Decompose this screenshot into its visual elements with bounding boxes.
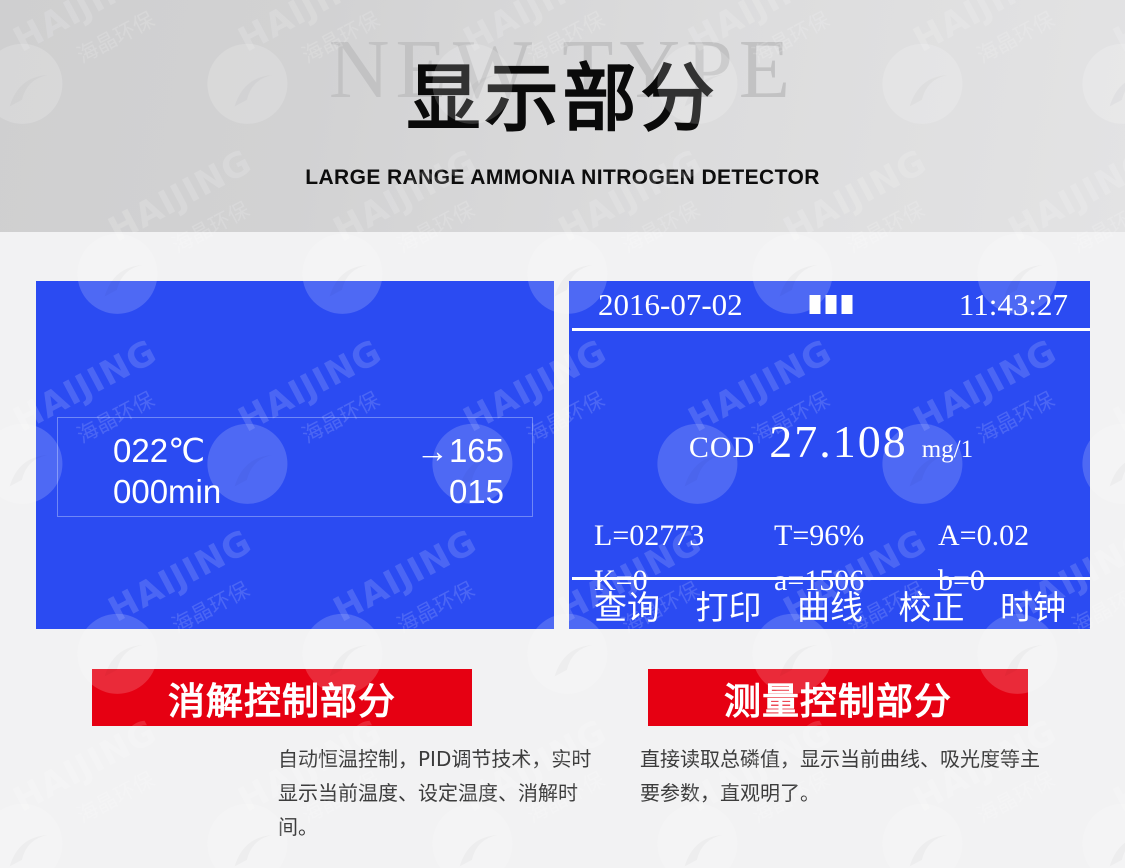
param-a: a=1506 [774, 558, 938, 603]
target-time-value: 015 [449, 475, 504, 508]
current-temperature-value: 022℃ [113, 434, 205, 467]
temperature-row: 022℃ →165 [58, 434, 532, 467]
parameter-row: K=0 a=1506 b=0 [594, 558, 1072, 603]
digestion-section-banner: 消解控制部分 [92, 669, 472, 726]
param-A: A=0.02 [938, 513, 1072, 558]
page-header: NEW TYPE 显示部分 LARGE RANGE AMMONIA NITROG… [0, 0, 1125, 232]
svg-text:HAIJING: HAIJING [7, 712, 164, 821]
param-b: b=0 [938, 558, 1072, 603]
param-K: K=0 [594, 558, 774, 603]
parameter-table: L=02773 T=96% A=0.02 K=0 a=1506 b=0 [594, 513, 1072, 603]
parameter-row: L=02773 T=96% A=0.02 [594, 513, 1072, 558]
param-T: T=96% [774, 513, 938, 558]
measurement-section-banner: 测量控制部分 [648, 669, 1028, 726]
param-L: L=02773 [594, 513, 774, 558]
time-row: 000min 015 [58, 475, 532, 508]
current-time-value: 000min [113, 475, 221, 508]
reading-value: 27.108 [769, 416, 908, 467]
measurement-control-display[interactable]: 2016-07-02 11:43:27 COD27.108mg/1 L=0277… [569, 281, 1090, 629]
display-clock: 11:43:27 [959, 287, 1068, 323]
display-main-area: COD27.108mg/1 L=02773 T=96% A=0.02 K=0 a… [572, 331, 1090, 577]
brand-watermark: HAIJING海晶环保 [1045, 693, 1125, 868]
reading-label: COD [689, 431, 755, 464]
page-subtitle: LARGE RANGE AMMONIA NITROGEN DETECTOR [0, 166, 1125, 190]
reading-unit: mg/1 [922, 436, 973, 463]
digestion-readout-box: 022℃ →165 000min 015 [57, 417, 533, 517]
digestion-section-description: 自动恒温控制，PID调节技术，实时显示当前温度、设定温度、消解时间。 [278, 742, 608, 844]
measurement-section-description: 直接读取总磷值，显示当前曲线、吸光度等主要参数，直观明了。 [640, 742, 1040, 810]
primary-reading: COD27.108mg/1 [572, 419, 1090, 465]
svg-text:HAIJING: HAIJING [1107, 332, 1125, 441]
svg-text:HAIJING: HAIJING [1107, 712, 1125, 821]
digestion-control-display[interactable]: 022℃ →165 000min 015 [36, 281, 554, 629]
svg-text:海晶环保: 海晶环保 [73, 767, 158, 828]
target-temperature-value: →165 [416, 434, 504, 467]
display-status-bar: 2016-07-02 11:43:27 [572, 281, 1090, 331]
page-title: 显示部分 [0, 62, 1125, 136]
battery-icon [810, 295, 853, 314]
display-date: 2016-07-02 [598, 287, 743, 323]
